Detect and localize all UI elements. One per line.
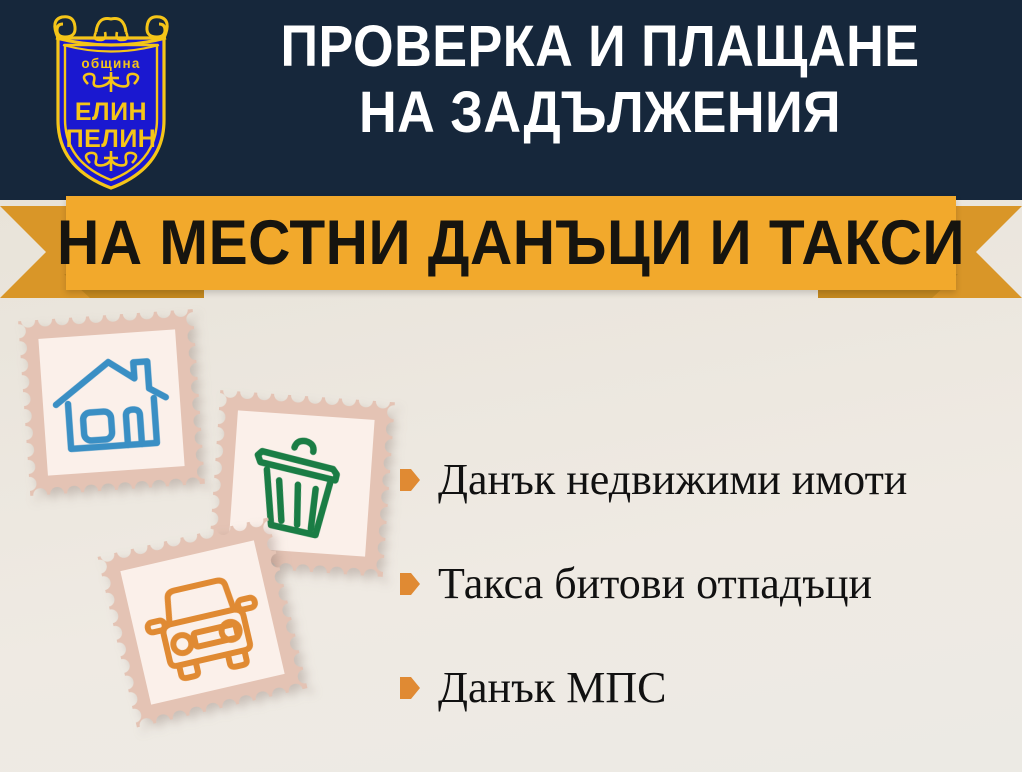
list-item[interactable]: Данък недвижими имоти: [400, 428, 1010, 532]
bullet-arrow-icon: [400, 573, 420, 595]
page-title-line2: НА ЗАДЪЛЖЕНИЯ: [231, 80, 969, 146]
list-item[interactable]: Данък МПС: [400, 636, 1010, 740]
list-item-label: Данък недвижими имоти: [438, 457, 907, 503]
list-item-label: Такса битови отпадъци: [438, 561, 872, 607]
tax-type-list: Данък недвижими имоти Такса битови отпад…: [400, 428, 1010, 740]
municipality-logo: община ЕЛИН ПЕЛИН: [36, 8, 186, 193]
logo-text-pelin: ПЕЛИН: [66, 125, 157, 153]
ribbon-banner: НА МЕСТНИ ДАНЪЦИ И ТАКСИ: [66, 196, 956, 290]
list-item-label: Данък МПС: [438, 665, 666, 711]
coat-of-arms-icon: община ЕЛИН ПЕЛИН: [36, 8, 186, 193]
ribbon-label: НА МЕСТНИ ДАНЪЦИ И ТАКСИ: [97, 196, 925, 290]
stamp-house: [18, 309, 205, 496]
list-item[interactable]: Такса битови отпадъци: [400, 532, 1010, 636]
bullet-arrow-icon: [400, 677, 420, 699]
page-title-line1: ПРОВЕРКА И ПЛАЩАНЕ: [280, 14, 919, 79]
stamp-house-graphic: [18, 309, 205, 496]
logo-text-obshtina: община: [81, 56, 140, 71]
bullet-arrow-icon: [400, 469, 420, 491]
subtitle-ribbon: НА МЕСТНИ ДАНЪЦИ И ТАКСИ: [0, 196, 1022, 308]
poster-canvas: община ЕЛИН ПЕЛИН ПРОВЕРКА И ПЛАЩАНЕ: [0, 0, 1022, 772]
page-title: ПРОВЕРКА И ПЛАЩАНЕ НА ЗАДЪЛЖЕНИЯ: [231, 14, 969, 146]
logo-text-elin: ЕЛИН: [75, 98, 147, 126]
